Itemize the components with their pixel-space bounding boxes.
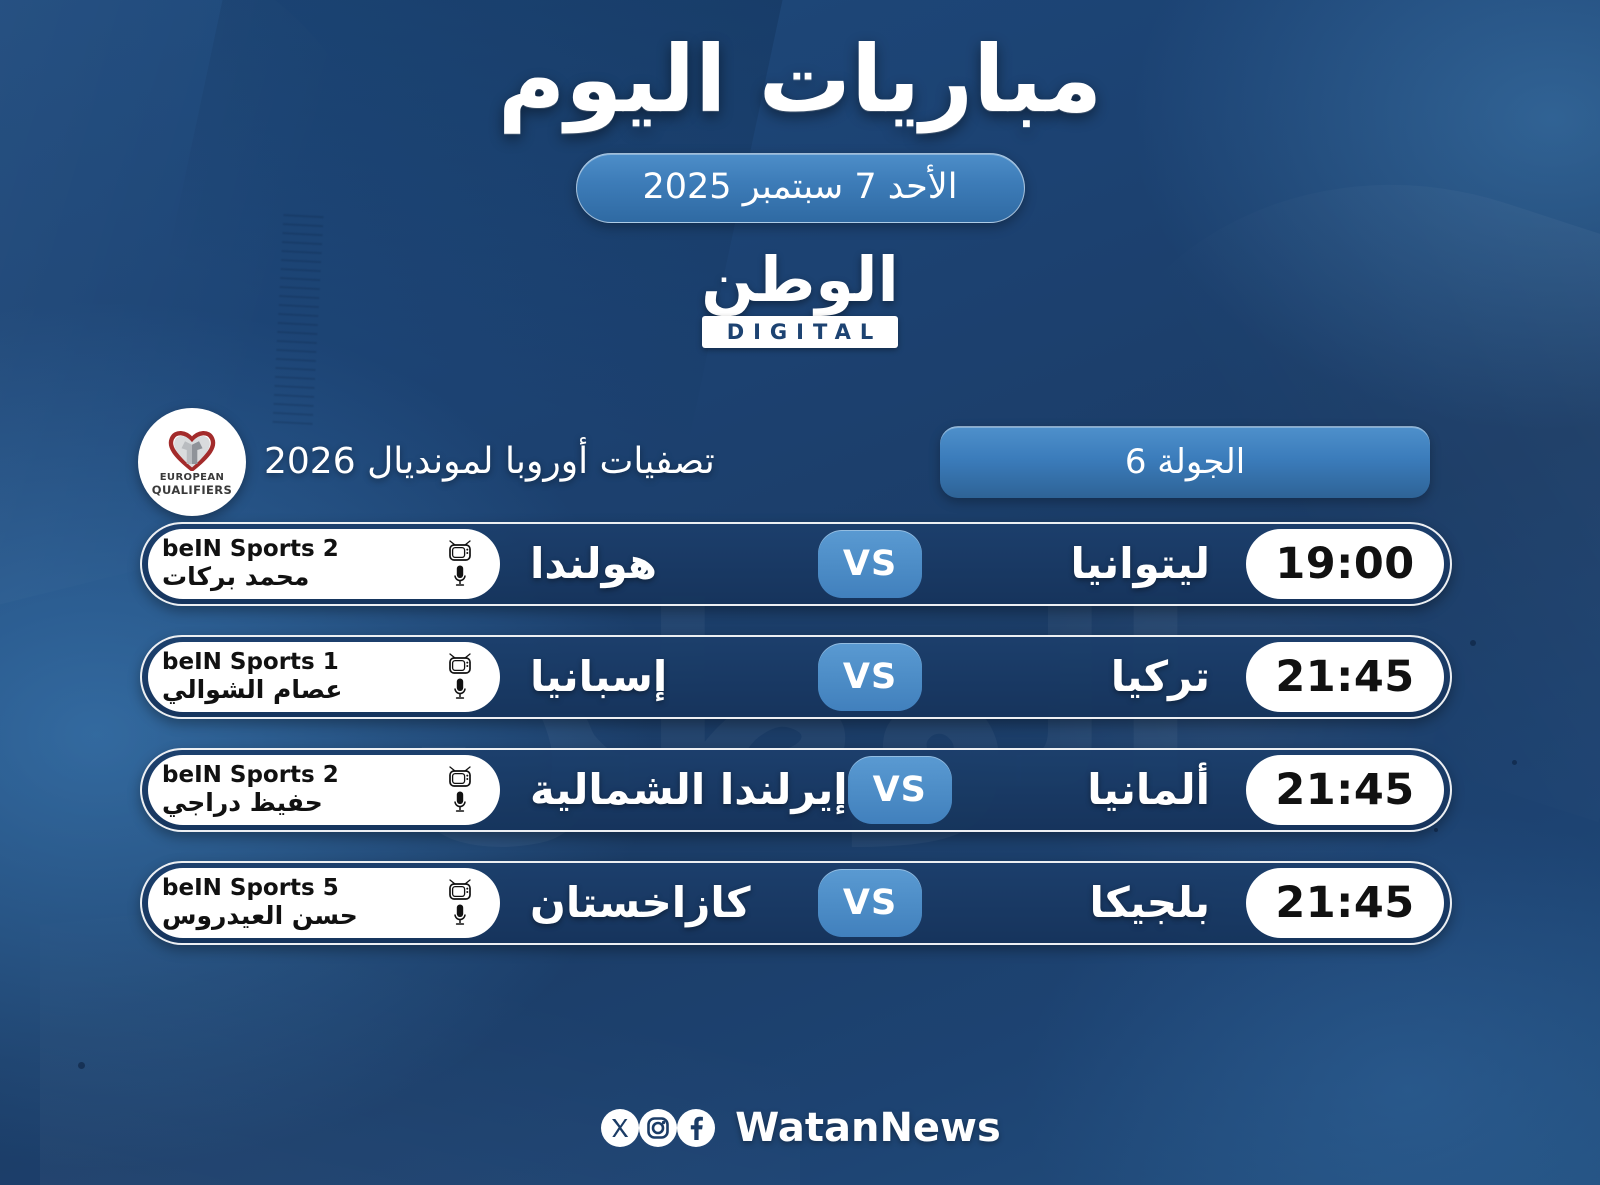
badge-line-1: EUROPEAN <box>160 472 225 483</box>
background-speck <box>1512 760 1517 765</box>
microphone-icon <box>452 790 468 814</box>
match-time: 21:45 <box>1246 642 1444 712</box>
away-team-name: هولندا <box>500 539 818 588</box>
broadcast-text: beIN Sports 2 حفيظ دراجي <box>162 762 424 818</box>
brand-subtitle: DIGITAL <box>702 316 899 348</box>
brand-logo: الوطن DIGITAL <box>0 251 1600 348</box>
home-team-name: ألمانيا <box>952 765 1246 814</box>
channel-name: beIN Sports 2 <box>162 762 339 788</box>
vs-badge: VS <box>818 530 922 598</box>
match-time: 21:45 <box>1246 868 1444 938</box>
match-row[interactable]: 21:45 بلجيكا VS كازاخستان <box>140 861 1452 945</box>
commentator-name: عصام الشوالي <box>162 675 342 705</box>
match-schedule-poster: الوطن مباريات اليوم الأحد 7 سبتمبر 2025 … <box>0 0 1600 1185</box>
vs-badge: VS <box>848 756 952 824</box>
match-time: 19:00 <box>1246 529 1444 599</box>
microphone-icon <box>452 677 468 701</box>
competition-strip: الجولة 6 تصفيات أوروبا لمونديال 2026 EUR… <box>0 418 1600 506</box>
background-speck <box>1434 828 1438 832</box>
home-team-name: تركيا <box>922 652 1246 701</box>
home-team-name: ليتوانيا <box>922 539 1246 588</box>
channel-name: beIN Sports 5 <box>162 875 339 901</box>
away-team-name: كازاخستان <box>500 878 818 927</box>
matches-list: 19:00 ليتوانيا VS هولندا <box>0 522 1600 945</box>
social-handle: WatanNews <box>735 1105 1001 1151</box>
commentator-name: محمد بركات <box>162 562 309 592</box>
broadcast-icons <box>438 879 482 927</box>
qualifiers-trophy-icon <box>165 429 219 471</box>
microphone-icon <box>452 903 468 927</box>
broadcast-info: beIN Sports 1 عصام الشوالي <box>148 642 500 712</box>
tv-icon <box>447 879 473 901</box>
broadcast-info: beIN Sports 2 محمد بركات <box>148 529 500 599</box>
background-speck <box>78 1062 85 1069</box>
match-row[interactable]: 21:45 ألمانيا VS إيرلندا الشمالية <box>140 748 1452 832</box>
away-team-name: إسبانيا <box>500 652 818 701</box>
date-pill: الأحد 7 سبتمبر 2025 <box>576 153 1025 223</box>
brand-name: الوطن <box>701 251 899 310</box>
competition-info: تصفيات أوروبا لمونديال 2026 EUROPEAN QUA… <box>138 408 715 516</box>
home-team-name: بلجيكا <box>922 878 1246 927</box>
social-icons <box>599 1107 713 1149</box>
tv-icon <box>447 540 473 562</box>
competition-name: تصفيات أوروبا لمونديال 2026 <box>264 441 715 482</box>
page-title: مباريات اليوم <box>0 22 1600 137</box>
tv-icon <box>447 653 473 675</box>
match-row[interactable]: 19:00 ليتوانيا VS هولندا <box>140 522 1452 606</box>
broadcast-text: beIN Sports 1 عصام الشوالي <box>162 649 424 705</box>
broadcast-info: beIN Sports 2 حفيظ دراجي <box>148 755 500 825</box>
channel-name: beIN Sports 1 <box>162 649 339 675</box>
broadcast-info: beIN Sports 5 حسن العيدروس <box>148 868 500 938</box>
vs-badge: VS <box>818 643 922 711</box>
broadcast-text: beIN Sports 2 محمد بركات <box>162 536 424 592</box>
broadcast-icons <box>438 766 482 814</box>
tv-icon <box>447 766 473 788</box>
round-pill: الجولة 6 <box>940 426 1430 498</box>
away-team-name: إيرلندا الشمالية <box>500 765 848 814</box>
background-speck <box>1470 640 1476 646</box>
commentator-name: حفيظ دراجي <box>162 788 323 818</box>
broadcast-icons <box>438 540 482 588</box>
channel-name: beIN Sports 2 <box>162 536 339 562</box>
instagram-icon[interactable] <box>637 1107 679 1149</box>
match-row[interactable]: 21:45 تركيا VS إسبانيا <box>140 635 1452 719</box>
poster-header: مباريات اليوم الأحد 7 سبتمبر 2025 الوطن … <box>0 0 1600 348</box>
microphone-icon <box>452 564 468 588</box>
x-icon[interactable] <box>599 1107 641 1149</box>
european-qualifiers-badge: EUROPEAN QUALIFIERS <box>138 408 246 516</box>
badge-line-2: QUALIFIERS <box>152 484 232 497</box>
broadcast-icons <box>438 653 482 701</box>
match-time: 21:45 <box>1246 755 1444 825</box>
broadcast-text: beIN Sports 5 حسن العيدروس <box>162 875 424 931</box>
poster-footer: WatanNews <box>0 1105 1600 1151</box>
vs-badge: VS <box>818 869 922 937</box>
facebook-icon[interactable] <box>675 1107 717 1149</box>
commentator-name: حسن العيدروس <box>162 901 358 931</box>
